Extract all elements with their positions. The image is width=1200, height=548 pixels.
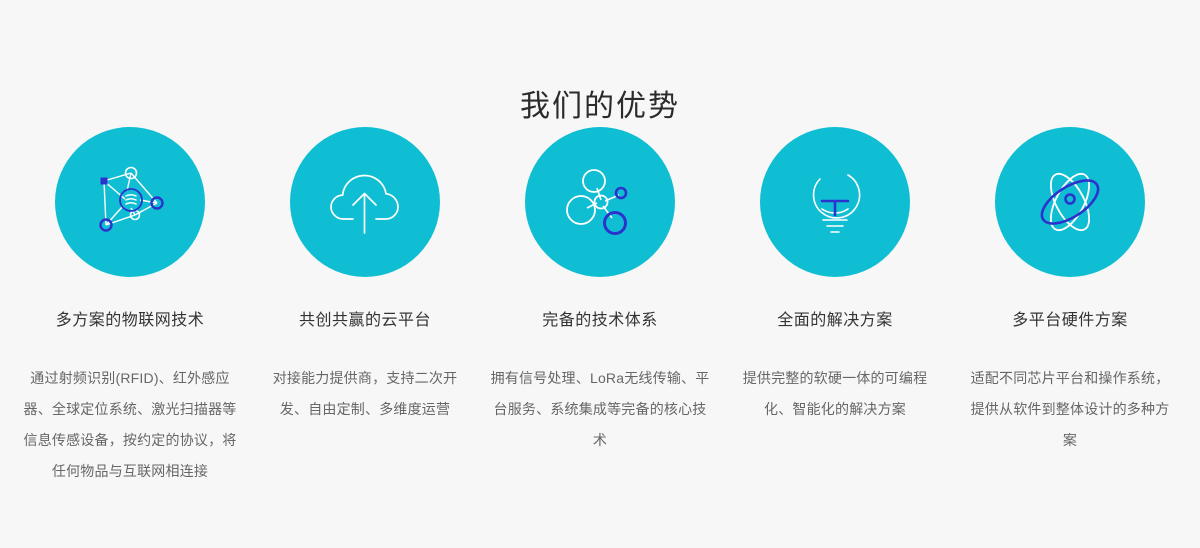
advantage-card-title: 共创共赢的云平台 [299, 310, 431, 332]
page-title: 我们的优势 [0, 87, 1200, 127]
advantage-card-description: 对接能力提供商，支持二次开发、自由定制、多维度运营 [259, 363, 471, 425]
advantage-card-description: 提供完整的软硬一体的可编程化、智能化的解决方案 [731, 363, 939, 425]
advantage-card-list: 多方案的物联网技术 通过射频识别(RFID)、红外感应器、全球定位系统、激光扫描… [0, 127, 1200, 487]
iot-network-icon [91, 163, 169, 241]
molecule-icon [561, 163, 639, 241]
advantage-card-title: 全面的解决方案 [777, 310, 893, 332]
advantage-card-title: 多方案的物联网技术 [56, 310, 205, 332]
advantage-card: 完备的技术体系 拥有信号处理、LoRa无线传输、平台服务、系统集成等完备的核心技… [488, 127, 712, 487]
lightbulb-icon [796, 163, 874, 241]
icon-circle [55, 127, 205, 277]
icon-circle [290, 127, 440, 277]
icon-circle [760, 127, 910, 277]
icon-circle [525, 127, 675, 277]
atom-icon [1031, 163, 1109, 241]
cloud-upload-icon [326, 163, 404, 241]
advantage-card-title: 多平台硬件方案 [1012, 310, 1128, 332]
advantage-card-description: 拥有信号处理、LoRa无线传输、平台服务、系统集成等完备的核心技术 [488, 363, 712, 456]
advantage-card-description: 适配不同芯片平台和操作系统，提供从软件到整体设计的多种方案 [964, 363, 1176, 456]
advantage-card: 共创共赢的云平台 对接能力提供商，支持二次开发、自由定制、多维度运营 [253, 127, 477, 487]
advantage-card: 全面的解决方案 提供完整的软硬一体的可编程化、智能化的解决方案 [723, 127, 947, 487]
advantage-card-title: 完备的技术体系 [542, 310, 658, 332]
advantage-card: 多方案的物联网技术 通过射频识别(RFID)、红外感应器、全球定位系统、激光扫描… [18, 127, 242, 487]
advantage-card: 多平台硬件方案 适配不同芯片平台和操作系统，提供从软件到整体设计的多种方案 [958, 127, 1182, 487]
advantage-card-description: 通过射频识别(RFID)、红外感应器、全球定位系统、激光扫描器等信息传感设备，按… [17, 363, 243, 487]
icon-circle [995, 127, 1145, 277]
advantages-section: 我们的优势 [0, 0, 1200, 548]
